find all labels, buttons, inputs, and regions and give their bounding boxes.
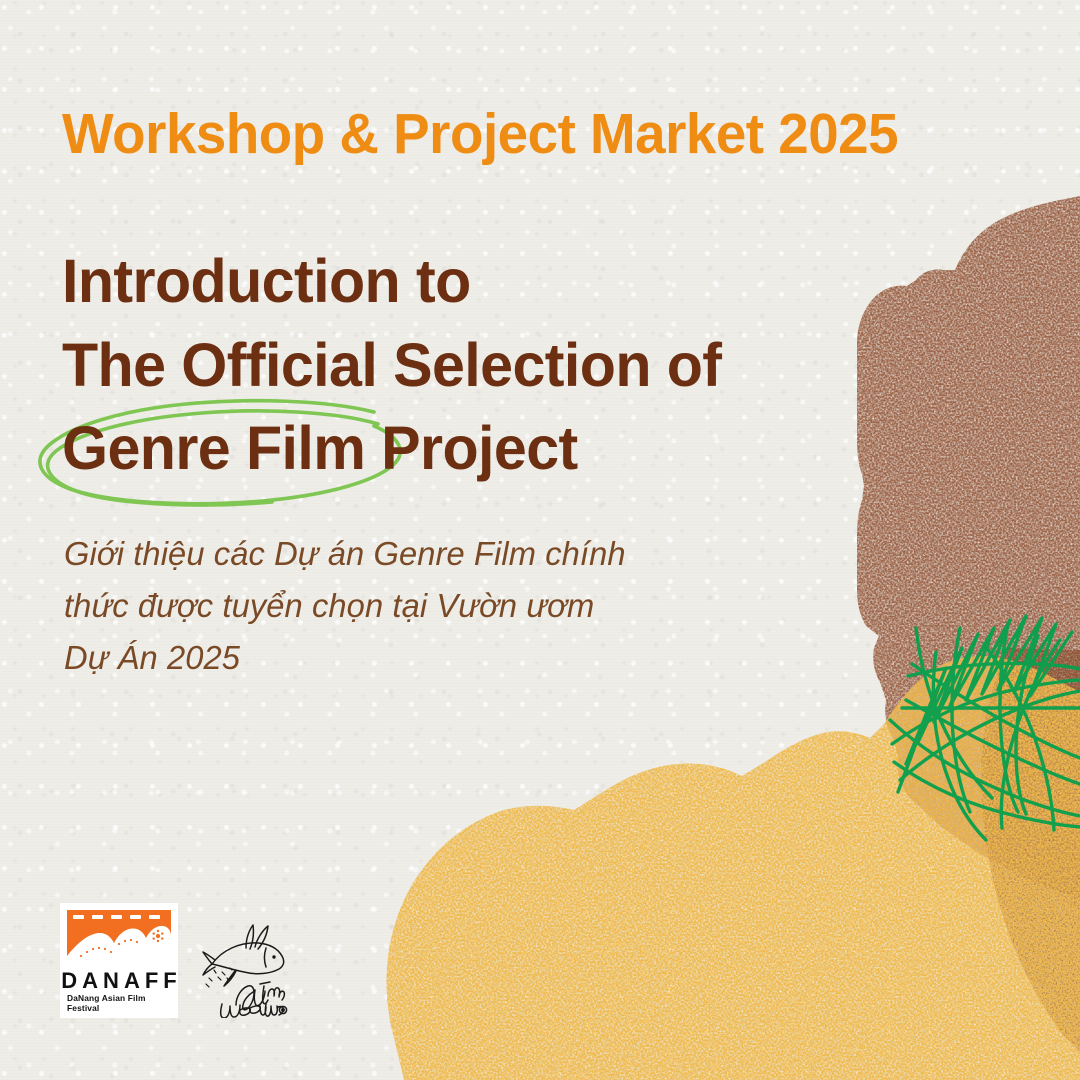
danaff-filmstrip-wave-icon bbox=[67, 910, 171, 966]
poster-subtitle: Giới thiệu các Dự án Genre Film chính th… bbox=[64, 528, 626, 684]
subtitle-line-1: Giới thiệu các Dự án Genre Film chính bbox=[64, 528, 626, 580]
logo-row: DANAFF DaNang Asian Film Festival bbox=[60, 903, 292, 1018]
headline-line-3: Genre Film Project bbox=[62, 407, 721, 491]
subtitle-line-2: thức được tuyển chọn tại Vườn ươm bbox=[64, 580, 626, 632]
danaff-tagline: DaNang Asian Film Festival bbox=[67, 993, 171, 1013]
headline-line-2: The Official Selection of bbox=[62, 324, 721, 408]
poster-canvas: Workshop & Project Market 2025 Introduct… bbox=[0, 0, 1080, 1080]
danaff-logo: DANAFF DaNang Asian Film Festival bbox=[60, 903, 178, 1018]
danaff-wordmark: DANAFF bbox=[56, 969, 181, 992]
subtitle-line-3: Dự Án 2025 bbox=[64, 632, 626, 684]
autumn-meeting-flying-fish-icon bbox=[200, 920, 292, 1018]
headline-line-1: Introduction to bbox=[62, 240, 721, 324]
poster-headline: Introduction to The Official Selection o… bbox=[62, 240, 721, 491]
poster-kicker: Workshop & Project Market 2025 bbox=[62, 104, 898, 164]
